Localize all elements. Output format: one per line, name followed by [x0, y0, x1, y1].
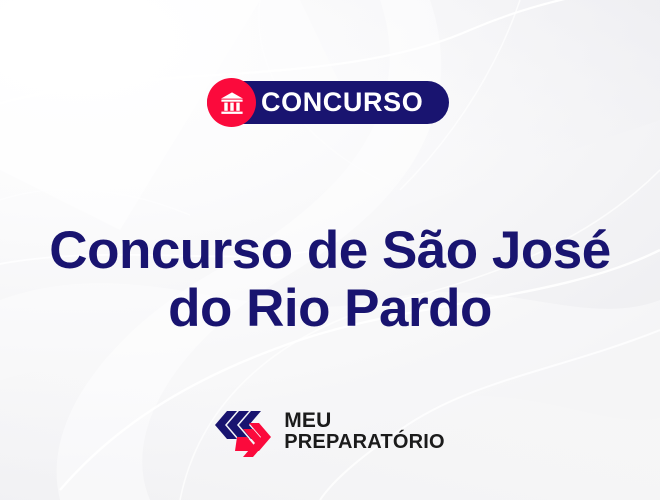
brand-name-line-2: PREPARATÓRIO — [284, 432, 445, 452]
badge-icon-circle — [207, 78, 256, 127]
banner-canvas: CONCURSO Concurso de São José do Rio Par… — [0, 0, 660, 500]
page-title-line-2: do Rio Pardo — [0, 280, 660, 339]
brand-name-line-1: MEU — [284, 410, 445, 431]
page-title-line-1: Concurso de São José — [0, 222, 660, 281]
brand-lockup: MEU PREPARATÓRIO — [0, 405, 660, 457]
meu-preparatorio-logo-icon — [215, 405, 271, 457]
bank-building-icon — [218, 89, 246, 117]
page-title: Concurso de São José do Rio Pardo — [0, 222, 660, 340]
concurso-badge-label: CONCURSO — [261, 89, 423, 116]
brand-name: MEU PREPARATÓRIO — [284, 410, 445, 452]
